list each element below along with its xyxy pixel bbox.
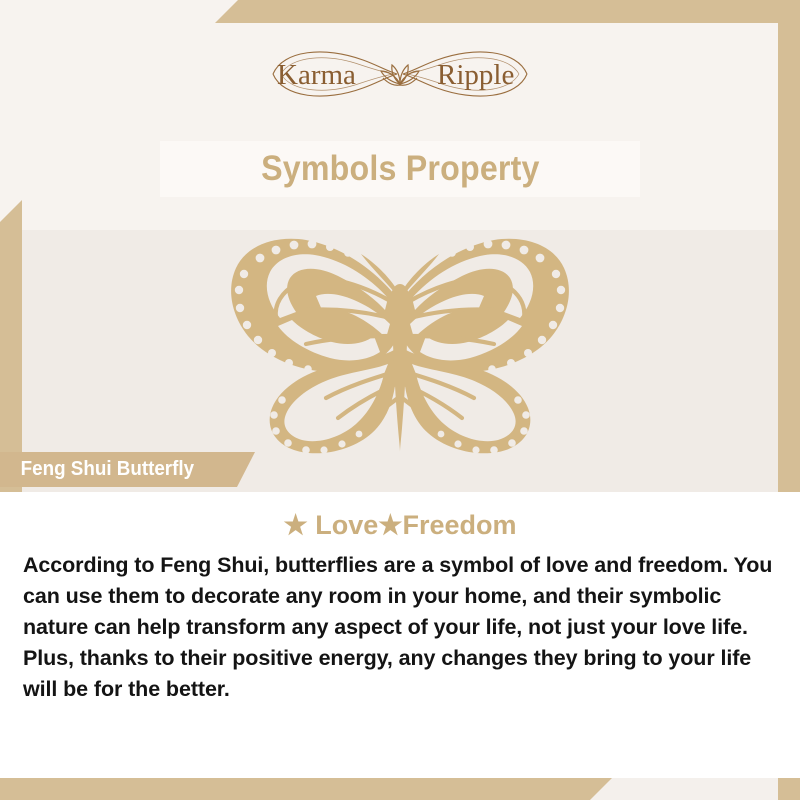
description-paragraph: According to Feng Shui, butterflies are … <box>23 550 783 705</box>
page-title: Symbols Property <box>261 149 540 189</box>
butterfly-svg <box>222 232 578 464</box>
infographic-page: Karma Ripple Symbols Property <box>0 0 800 800</box>
love-freedom-heading: ★ Love★Freedom <box>0 510 800 541</box>
feng-shui-butterfly-label-text: Feng Shui Butterfly <box>0 458 194 481</box>
title-banner: Symbols Property <box>160 141 640 197</box>
logo-word-karma: Karma <box>277 59 356 91</box>
feng-shui-butterfly-label: Feng Shui Butterfly <box>0 452 255 487</box>
brand-logo: Karma Ripple <box>0 38 800 110</box>
butterfly-icon <box>222 232 578 464</box>
frame-band-bottom <box>0 778 612 800</box>
logo-word-ripple: Ripple <box>437 59 514 91</box>
content-panel: ★ Love★Freedom According to Feng Shui, b… <box>0 492 800 778</box>
logo-svg: Karma Ripple <box>265 40 535 108</box>
frame-band-top <box>215 0 800 23</box>
